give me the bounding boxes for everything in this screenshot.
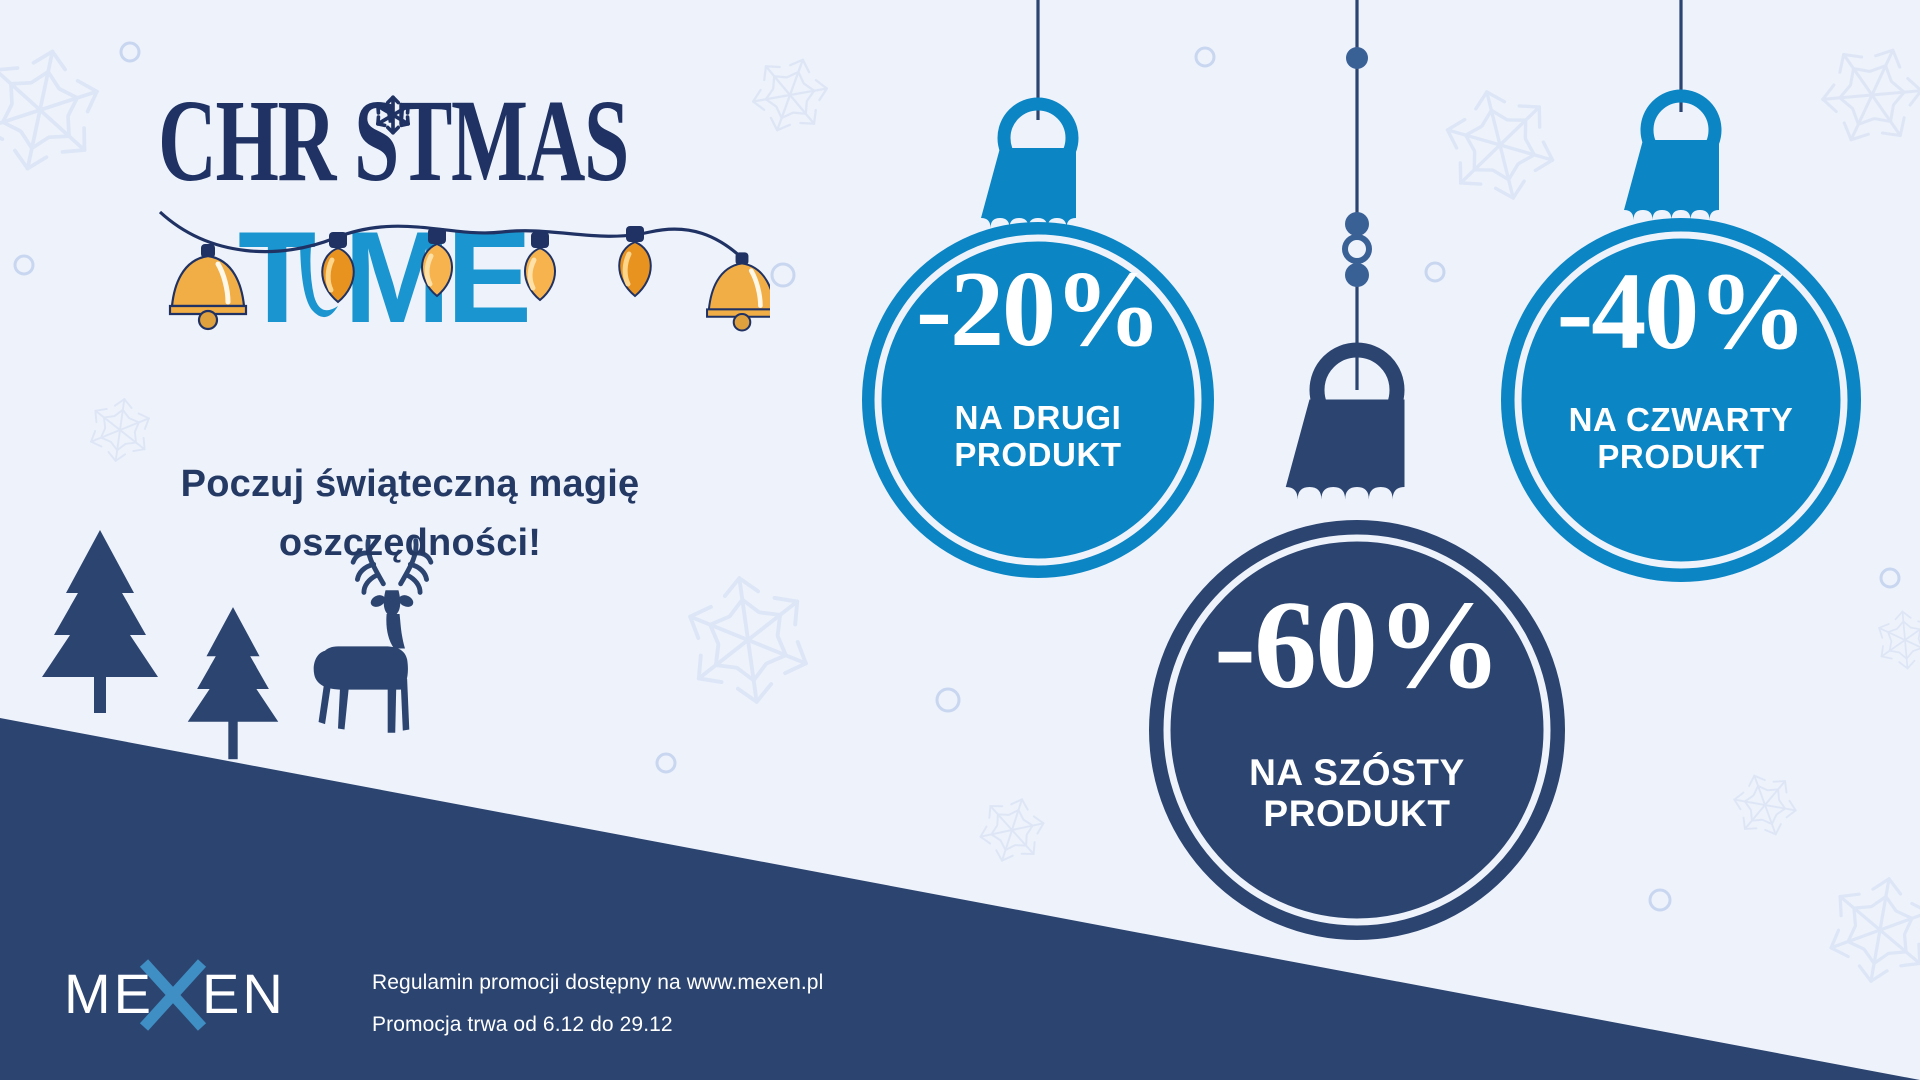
bauble-20-percent: -20% — [838, 248, 1238, 372]
tagline: Poczuj świąteczną magię oszczędności! — [120, 455, 700, 573]
bauble-40-label-line1: NA CZWARTY — [1569, 401, 1794, 438]
christmas-time-logo: CHR STMAS T ME — [150, 60, 770, 380]
bauble-20-label: NA DRUGI PRODUKT — [838, 400, 1238, 474]
promo-banner: -20% NA DRUGI PRODUKT -40% NA CZWARTY PR… — [0, 0, 1920, 1080]
bauble-60-label: NA SZÓSTY PRODUKT — [1137, 752, 1577, 835]
bauble-60-percent: -60% — [1137, 574, 1577, 718]
bauble-40-label-line2: PRODUKT — [1597, 438, 1764, 475]
bell-icon — [170, 244, 246, 329]
mexen-logo-suffix: EN — [202, 962, 286, 1025]
mexen-logo[interactable]: ME EN — [62, 955, 312, 1035]
footer-line1: Regulamin promocji dostępny na www.mexen… — [372, 962, 823, 1004]
tagline-line2: oszczędności! — [120, 514, 700, 573]
bauble-40-percent: -40% — [1481, 248, 1881, 375]
bauble-20-label-line1: NA DRUGI — [955, 399, 1122, 436]
bauble-60-label-line1: NA SZÓSTY — [1249, 752, 1465, 793]
bauble-40[interactable]: -40% NA CZWARTY PRODUKT — [1481, 230, 1881, 570]
footer-line2: Promocja trwa od 6.12 do 29.12 — [372, 1004, 823, 1046]
bauble-40-label: NA CZWARTY PRODUKT — [1481, 402, 1881, 476]
light-bulb-icon — [525, 232, 555, 300]
mexen-logo-prefix: ME — [64, 962, 154, 1025]
bauble-20[interactable]: -20% NA DRUGI PRODUKT — [838, 230, 1238, 570]
tagline-line1: Poczuj świąteczną magię — [120, 455, 700, 514]
logo-line1: CHR STMAS — [158, 75, 628, 206]
bauble-60[interactable]: -60% NA SZÓSTY PRODUKT — [1137, 548, 1577, 938]
footer-text: Regulamin promocji dostępny na www.mexen… — [372, 962, 823, 1046]
bauble-60-label-line2: PRODUKT — [1263, 793, 1450, 834]
bauble-20-label-line2: PRODUKT — [954, 436, 1121, 473]
bell-icon — [707, 252, 770, 330]
